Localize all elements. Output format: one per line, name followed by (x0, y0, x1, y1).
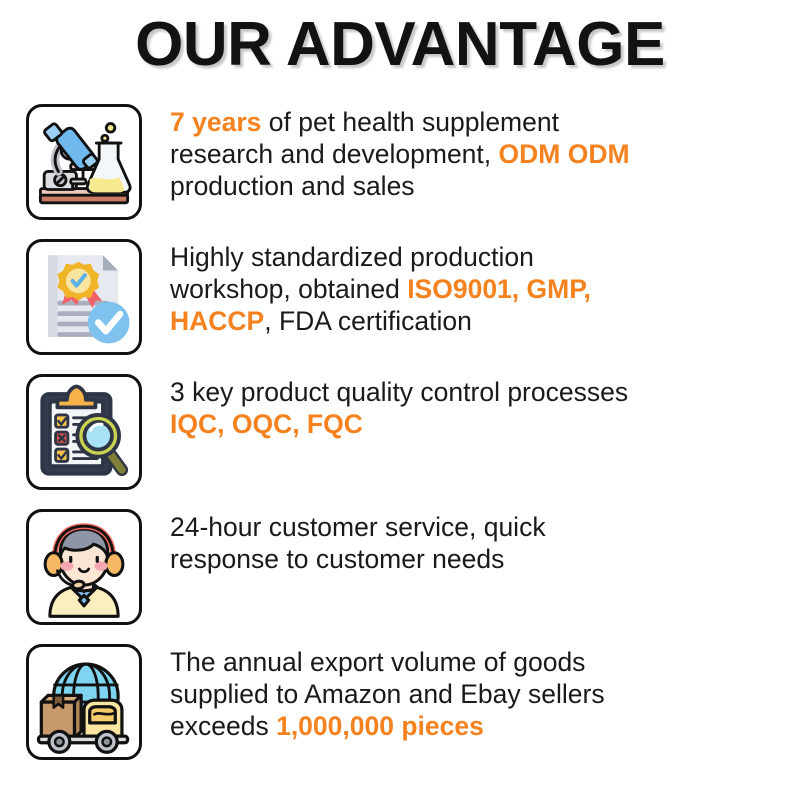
advantage-text: 24-hour customer service, quick response… (142, 505, 800, 575)
highlight-text: HACCP (170, 306, 264, 336)
plain-text: The annual export volume of goods (170, 647, 585, 677)
advantage-row: 24-hour customer service, quick response… (0, 505, 800, 640)
plain-text: of pet health supplement (261, 107, 559, 137)
advantage-list: 7 years of pet health supplement researc… (0, 100, 800, 775)
highlight-text: ODM ODM (499, 139, 630, 169)
advantage-text: 3 key product quality control processes … (142, 370, 800, 440)
text-line: response to customer needs (170, 543, 784, 575)
plain-text: response to customer needs (170, 544, 504, 574)
advantage-row: 7 years of pet health supplement researc… (0, 100, 800, 235)
page-title: OUR ADVANTAGE (135, 14, 665, 76)
advantage-text: The annual export volume of goods suppli… (142, 640, 800, 742)
highlight-text: 7 years (170, 107, 261, 137)
text-line: 24-hour customer service, quick (170, 511, 784, 543)
text-line: workshop, obtained ISO9001, GMP, (170, 273, 784, 305)
plain-text: , FDA certification (264, 306, 472, 336)
plain-text: exceeds (170, 711, 276, 741)
clipboard-magnifier-icon (26, 374, 142, 490)
text-line: HACCP, FDA certification (170, 305, 784, 337)
advantage-text: 7 years of pet health supplement researc… (142, 100, 800, 202)
highlight-text: 1,000,000 pieces (276, 711, 484, 741)
text-line: 7 years of pet health supplement (170, 106, 784, 138)
advantage-row: The annual export volume of goods suppli… (0, 640, 800, 775)
text-line: production and sales (170, 170, 784, 202)
text-line: Highly standardized production (170, 241, 784, 273)
globe-delivery-truck-icon (26, 644, 142, 760)
our-advantage-infographic: OUR ADVANTAGE (0, 0, 800, 800)
text-line: supplied to Amazon and Ebay sellers (170, 678, 784, 710)
plain-text: production and sales (170, 171, 415, 201)
highlight-text: IQC, OQC, FQC (170, 409, 363, 439)
advantage-text: Highly standardized production workshop,… (142, 235, 800, 337)
advantage-row: Highly standardized production workshop,… (0, 235, 800, 370)
plain-text: 3 key product quality control processes (170, 377, 628, 407)
page-title-wrap: OUR ADVANTAGE (0, 14, 800, 76)
certificate-check-icon (26, 239, 142, 355)
customer-support-agent-icon (26, 509, 142, 625)
plain-text: research and development, (170, 139, 499, 169)
plain-text: workshop, obtained (170, 274, 407, 304)
text-line: exceeds 1,000,000 pieces (170, 710, 784, 742)
text-line: 3 key product quality control processes (170, 376, 784, 408)
plain-text: Highly standardized production (170, 242, 534, 272)
microscope-flask-icon (26, 104, 142, 220)
text-line: The annual export volume of goods (170, 646, 784, 678)
plain-text: supplied to Amazon and Ebay sellers (170, 679, 605, 709)
text-line: IQC, OQC, FQC (170, 408, 784, 440)
text-line: research and development, ODM ODM (170, 138, 784, 170)
highlight-text: ISO9001, GMP, (407, 274, 591, 304)
advantage-row: 3 key product quality control processes … (0, 370, 800, 505)
plain-text: 24-hour customer service, quick (170, 512, 546, 542)
